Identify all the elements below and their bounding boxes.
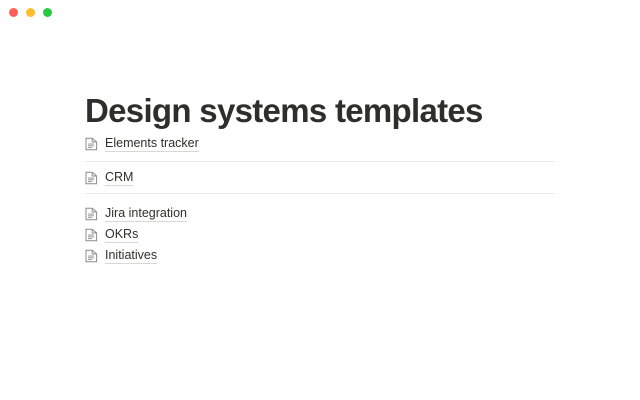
- document-icon: [85, 228, 98, 242]
- list-item[interactable]: CRM: [85, 162, 555, 193]
- document-icon: [85, 249, 98, 263]
- document-body: Design systems templates Elements tracke…: [0, 0, 640, 400]
- list-item-label: CRM: [105, 170, 133, 186]
- list-item[interactable]: Jira integration: [85, 203, 555, 224]
- list-item-label: OKRs: [105, 227, 138, 243]
- list-item[interactable]: Elements tracker: [85, 133, 555, 154]
- list-item-label: Elements tracker: [105, 136, 199, 152]
- document-icon: [85, 137, 98, 151]
- list-item-label: Jira integration: [105, 206, 187, 222]
- app-window: Design systems templates Elements tracke…: [0, 0, 640, 400]
- document-icon: [85, 171, 98, 185]
- list-item[interactable]: OKRs: [85, 224, 555, 245]
- page-title: Design systems templates: [85, 92, 483, 130]
- list-item-label: Initiatives: [105, 248, 157, 264]
- document-icon: [85, 207, 98, 221]
- template-list: Elements tracker CRM: [85, 133, 555, 266]
- list-divider: [85, 193, 555, 194]
- list-item[interactable]: Initiatives: [85, 245, 555, 266]
